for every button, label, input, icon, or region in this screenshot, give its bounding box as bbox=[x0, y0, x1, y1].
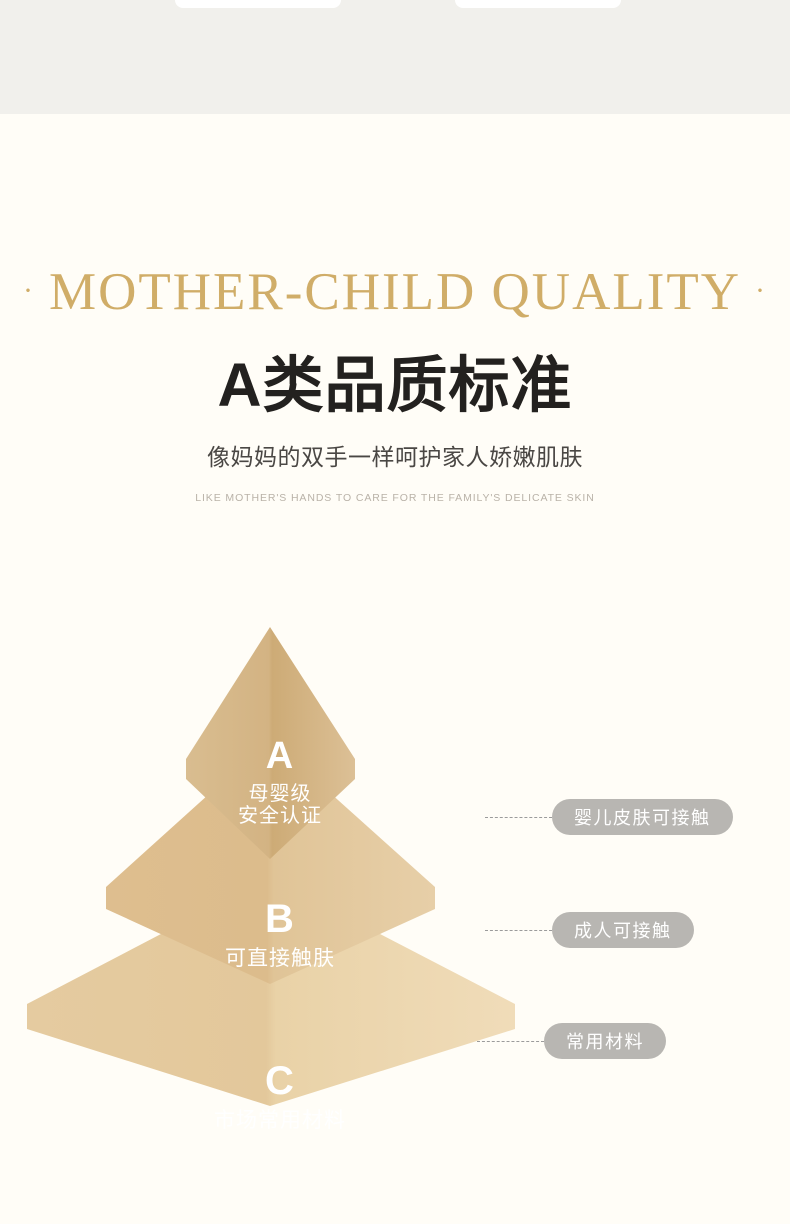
eyebrow-title: ·MOTHER-CHILD QUALITY· bbox=[0, 266, 790, 319]
top-card-right[interactable] bbox=[455, 0, 621, 8]
top-scroll-band bbox=[0, 0, 790, 114]
callout-pill-c[interactable]: 常用材料 bbox=[544, 1023, 666, 1059]
callout-tier-c: 常用材料 bbox=[477, 1023, 666, 1059]
leader-line-a bbox=[485, 817, 552, 818]
leader-line-b bbox=[485, 930, 552, 931]
callout-pill-a[interactable]: 婴儿皮肤可接触 bbox=[552, 799, 733, 835]
leader-line-c bbox=[477, 1041, 544, 1042]
page-title: A类品质标准 bbox=[0, 355, 790, 416]
eyebrow-dot-left: · bbox=[9, 274, 49, 307]
tier-c-label: 市场常用材料 bbox=[150, 1109, 410, 1133]
eyebrow-text: MOTHER-CHILD QUALITY bbox=[49, 263, 741, 321]
header-block: ·MOTHER-CHILD QUALITY· A类品质标准 像妈妈的双手一样呵护… bbox=[0, 114, 790, 504]
subtitle-chinese: 像妈妈的双手一样呵护家人娇嫩肌肤 bbox=[0, 446, 790, 469]
callout-tier-a: 婴儿皮肤可接触 bbox=[485, 799, 733, 835]
subtitle-english: LIKE MOTHER'S HANDS TO CARE FOR THE FAMI… bbox=[0, 493, 790, 504]
promo-page: ·MOTHER-CHILD QUALITY· A类品质标准 像妈妈的双手一样呵护… bbox=[0, 114, 790, 1224]
callout-tier-b: 成人可接触 bbox=[485, 912, 694, 948]
callout-pill-b[interactable]: 成人可接触 bbox=[552, 912, 694, 948]
top-card-left[interactable] bbox=[175, 0, 341, 8]
eyebrow-dot-right: · bbox=[741, 274, 781, 307]
quality-pyramid-diagram: A 母婴级 安全认证 B 可直接触肤 C 市场常用材料 bbox=[10, 609, 540, 1109]
